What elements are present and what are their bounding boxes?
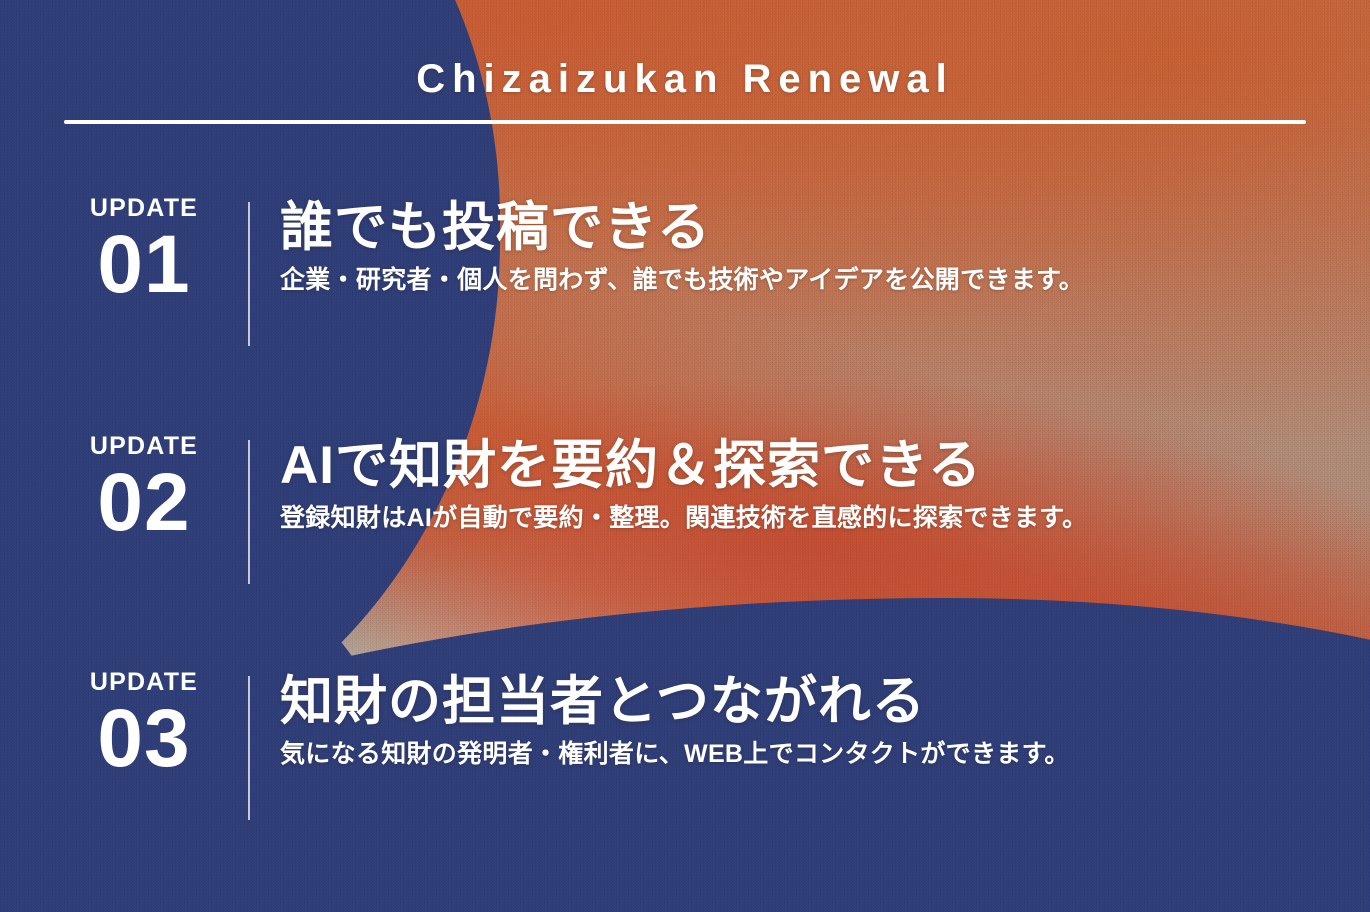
update-number-column-02: UPDATE 02 xyxy=(64,434,224,543)
update-headline-03: 知財の担当者とつながれる xyxy=(280,672,1070,732)
update-subline-02: 登録知財はAIが自動で要約・整理。関連技術を直感的に探索できます。 xyxy=(280,502,1087,535)
update-label-02: UPDATE xyxy=(64,434,224,459)
title-underline-rule xyxy=(64,120,1306,124)
update-subline-01: 企業・研究者・個人を問わず、誰でも技術やアイデアを公開できます。 xyxy=(280,264,1084,297)
update-number-column-03: UPDATE 03 xyxy=(64,670,224,779)
banner-canvas: Chizaizukan Renewal UPDATE 01 誰でも投稿できる 企… xyxy=(0,0,1370,912)
update-headline-01: 誰でも投稿できる xyxy=(280,198,1084,258)
update-number-02: 02 xyxy=(64,463,224,543)
update-headline-02: AIで知財を要約＆探索できる xyxy=(280,436,1087,496)
update-label-01: UPDATE xyxy=(64,196,224,221)
update-number-03: 03 xyxy=(64,699,224,779)
update-number-column-01: UPDATE 01 xyxy=(64,196,224,305)
update-subline-03: 気になる知財の発明者・権利者に、WEB上でコンタクトができます。 xyxy=(280,738,1070,771)
update-row-01: UPDATE 01 誰でも投稿できる 企業・研究者・個人を問わず、誰でも技術やア… xyxy=(64,196,1330,346)
update-text-column-01: 誰でも投稿できる 企業・研究者・個人を問わず、誰でも技術やアイデアを公開できます… xyxy=(250,196,1084,297)
banner-content: Chizaizukan Renewal UPDATE 01 誰でも投稿できる 企… xyxy=(0,0,1370,912)
update-text-column-02: AIで知財を要約＆探索できる 登録知財はAIが自動で要約・整理。関連技術を直感的… xyxy=(250,434,1087,535)
update-row-03: UPDATE 03 知財の担当者とつながれる 気になる知財の発明者・権利者に、W… xyxy=(64,670,1330,820)
update-row-02: UPDATE 02 AIで知財を要約＆探索できる 登録知財はAIが自動で要約・整… xyxy=(64,434,1330,584)
banner-title-block: Chizaizukan Renewal xyxy=(64,58,1306,124)
page-title: Chizaizukan Renewal xyxy=(64,58,1306,100)
update-label-03: UPDATE xyxy=(64,670,224,695)
update-text-column-03: 知財の担当者とつながれる 気になる知財の発明者・権利者に、WEB上でコンタクトが… xyxy=(250,670,1070,771)
update-number-01: 01 xyxy=(64,225,224,305)
